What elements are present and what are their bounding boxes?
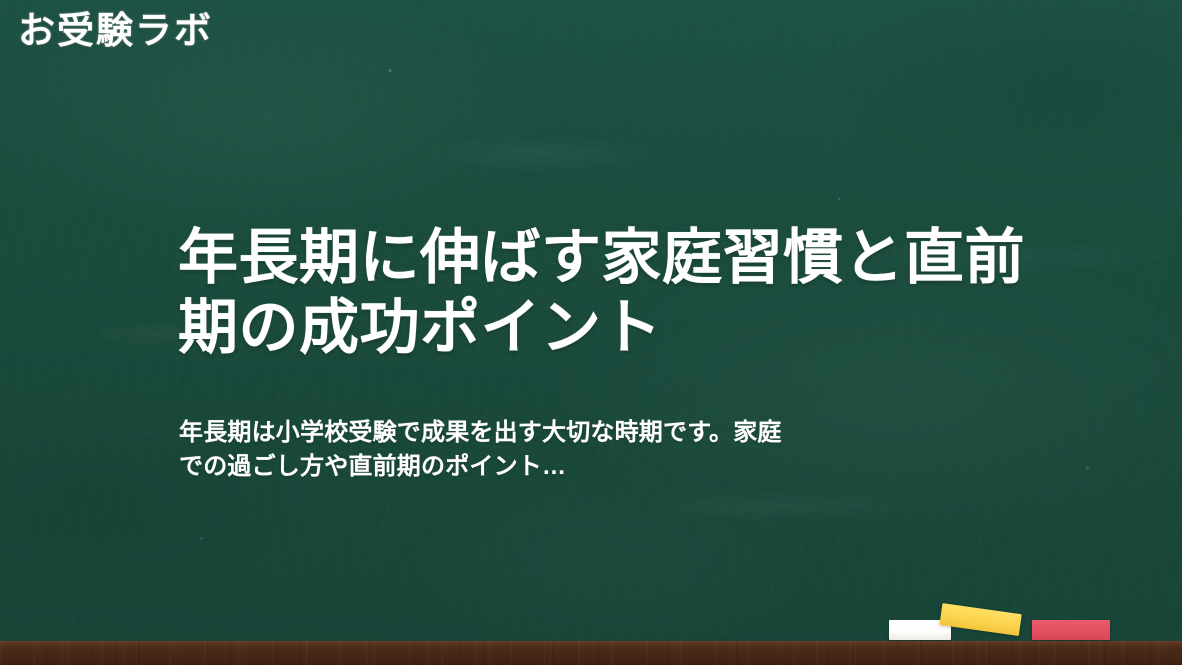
- red-chalk-icon: [1032, 620, 1110, 640]
- slide-title: 年長期に伸ばす家庭習慣と直前期の成功ポイント: [178, 223, 1084, 363]
- slide-canvas: お受験ラボ 年長期に伸ばす家庭習慣と直前期の成功ポイント 年長期は小学校受験で成…: [0, 0, 1182, 665]
- slide-subtitle: 年長期は小学校受験で成果を出す大切な時期です。家庭での過ごし方や直前期のポイント…: [179, 416, 789, 484]
- brand-logo: お受験ラボ: [18, 11, 213, 52]
- chalk-tray-ledge: [0, 641, 1182, 665]
- wood-grain-texture: [0, 641, 1182, 665]
